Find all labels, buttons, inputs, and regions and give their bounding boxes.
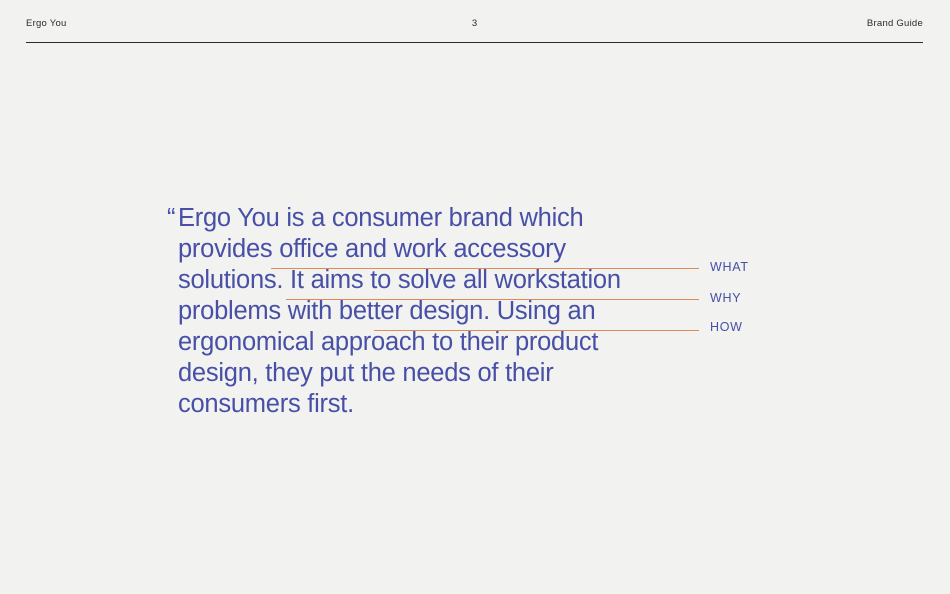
- header-row: Ergo You 3 Brand Guide: [26, 18, 923, 38]
- quote-line-6: design, they put the needs of their: [178, 358, 598, 389]
- quote-line-6-text: design, they put the needs of their: [178, 359, 553, 387]
- leader-rule-what: [271, 268, 699, 269]
- quote-block: “Ergo You is a consumer brand which prov…: [178, 203, 598, 420]
- quote-line-5-text: ergonomical approach to their product: [178, 328, 598, 356]
- quote-line-4-text: problems with better design. Using an: [178, 297, 595, 325]
- quote-line-1-text: Ergo You is a consumer brand which: [178, 204, 583, 232]
- open-quote-mark: “: [167, 203, 175, 234]
- leader-rule-how: [374, 330, 699, 331]
- annotation-label-what: WHAT: [710, 260, 749, 274]
- header-page-number: 3: [26, 18, 923, 30]
- quote-line-1: “Ergo You is a consumer brand which: [178, 203, 598, 234]
- quote-line-2: provides office and work accessory: [178, 234, 598, 265]
- leader-rule-why: [286, 299, 699, 300]
- quote-line-3-text: solutions. It aims to solve all workstat…: [178, 266, 621, 294]
- quote-line-4: problems with better design. Using an: [178, 296, 598, 327]
- page-header: Ergo You 3 Brand Guide: [26, 18, 923, 43]
- quote-line-7-text: consumers first.: [178, 390, 354, 418]
- quote-line-3: solutions. It aims to solve all workstat…: [178, 265, 598, 296]
- quote-line-7: consumers first.: [178, 389, 598, 420]
- quote-line-5: ergonomical approach to their product: [178, 327, 598, 358]
- annotation-label-why: WHY: [710, 291, 741, 305]
- annotation-label-how: HOW: [710, 320, 743, 334]
- quote-line-2-text: provides office and work accessory: [178, 235, 566, 263]
